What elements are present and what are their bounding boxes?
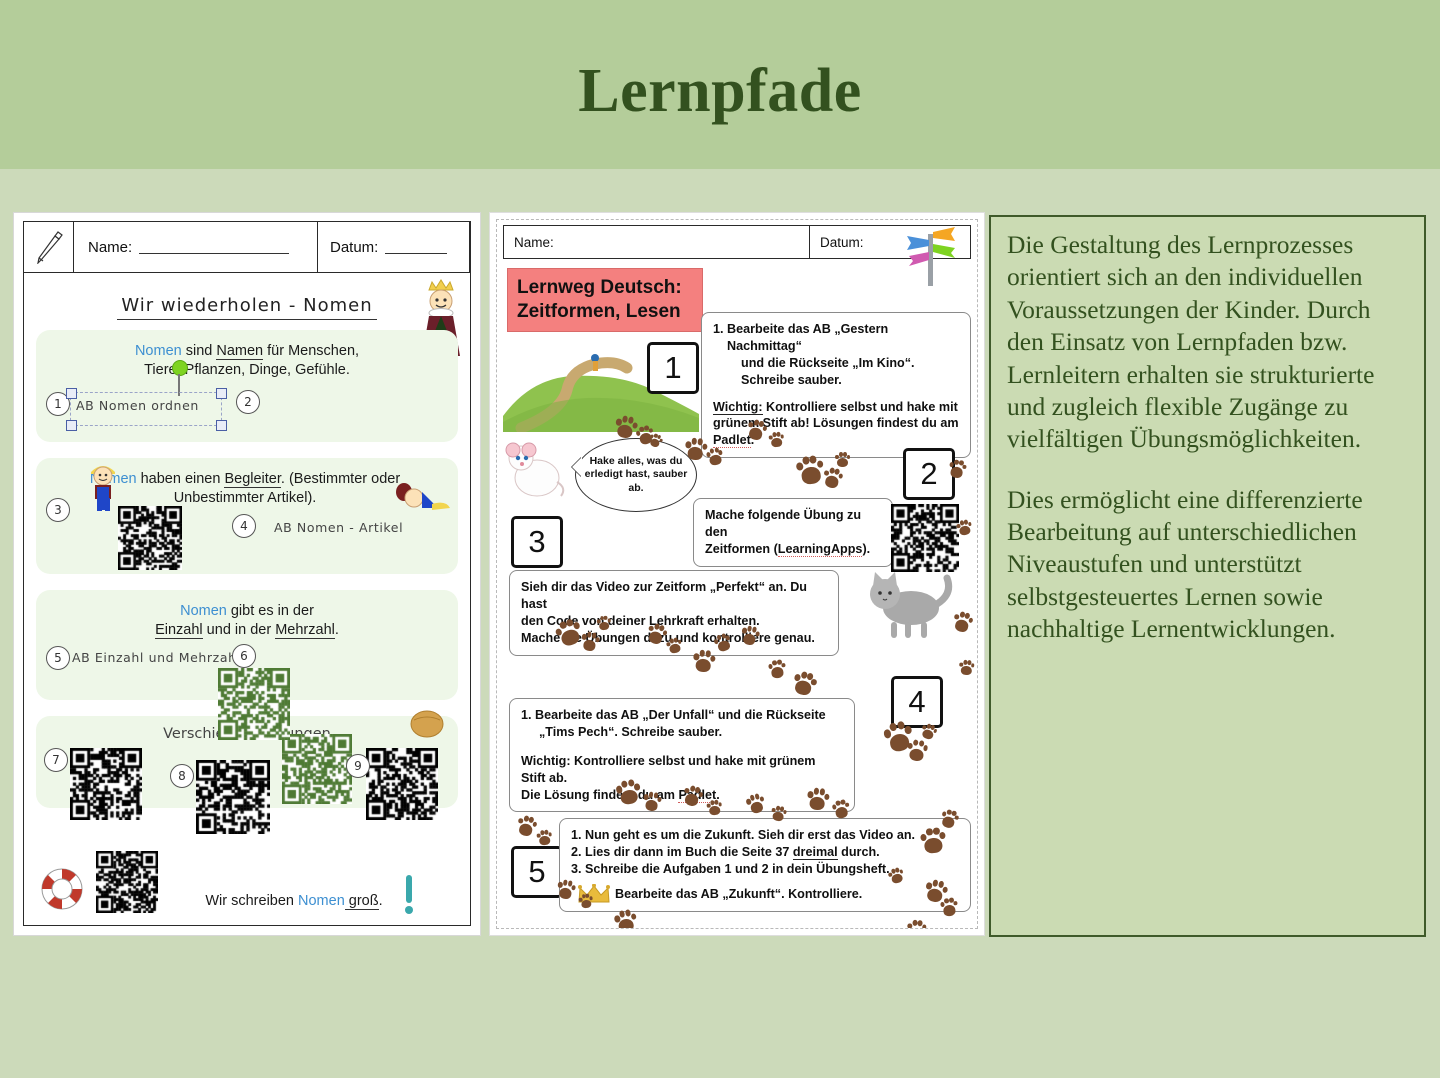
step3-line-3: Mache die Übungen dazu und kontrolliere … — [521, 630, 827, 647]
paw-print-icon — [906, 739, 930, 764]
resize-handle-bl[interactable] — [66, 420, 77, 431]
block1-text-b: für Menschen, — [263, 343, 359, 359]
block2-text-b: . (Bestimmter oder — [281, 471, 400, 487]
description-paragraph-1: Die Gestaltung des Lernprozesses orienti… — [1007, 229, 1410, 456]
footer-word-nomen: Nomen — [298, 893, 345, 909]
step5-line-1: 1. Nun geht es um die Zukunft. Sieh dir … — [571, 827, 959, 844]
step-box-1[interactable]: 1 — [647, 342, 699, 394]
worksheet-lernweg[interactable]: Name: Datum: Lernweg Deutsch: Zeitformen… — [490, 213, 984, 935]
name-blank[interactable] — [139, 241, 289, 254]
block3-text-b: und in der — [203, 622, 276, 638]
step2-line-2: Zeitformen ( — [705, 542, 778, 556]
block2-word-begleiter: Begleiter — [224, 471, 280, 488]
task-label-1: AB Nomen ordnen — [76, 398, 199, 413]
qr-code-6[interactable] — [218, 668, 290, 740]
name-label: Name: — [88, 239, 132, 256]
paw-print-icon — [906, 919, 927, 929]
step-marker-8[interactable]: 8 — [170, 764, 194, 788]
footer-word-gross: groß — [345, 893, 379, 910]
paw-print-icon — [768, 659, 788, 680]
qr-code-green[interactable] — [282, 734, 352, 804]
block1-word-nomen: Nomen — [135, 343, 182, 359]
paw-print-icon — [536, 829, 553, 847]
block3-word-einzahl: Einzahl — [155, 622, 203, 639]
qr-code-9[interactable] — [366, 748, 438, 820]
task-label-3: AB Einzahl und Mehrzahl — [72, 650, 241, 665]
step-box-4[interactable]: 4 — [891, 676, 943, 728]
step4-important-label: Wichtig: — [521, 754, 571, 768]
qr-code-3[interactable] — [118, 506, 182, 570]
step5-line-3: 3. Schreibe die Aufgaben 1 und 2 in dein… — [571, 861, 959, 878]
concept-block-3-text: Nomen gibt es in der Einzahl und in der … — [36, 590, 458, 640]
rotation-handle[interactable] — [172, 360, 188, 376]
step3-line-2: den Code von deiner Lehrkraft erhalten. — [521, 613, 827, 630]
paw-print-icon — [821, 466, 845, 491]
signpost-icon — [901, 222, 959, 286]
cat-icon — [863, 568, 955, 640]
date-blank[interactable] — [385, 241, 447, 254]
step-callout-2: Mache folgende Übung zu den Zeitformen (… — [693, 498, 893, 567]
step-marker-2[interactable]: 2 — [236, 390, 260, 414]
mouse-icon — [503, 442, 567, 500]
exclamation-mark-icon — [404, 875, 414, 915]
lifebuoy-icon — [40, 867, 84, 911]
step5-underlined-word: dreimal — [793, 845, 838, 860]
step-marker-3[interactable]: 3 — [46, 498, 70, 522]
paw-print-icon — [795, 454, 826, 488]
resize-handle-br[interactable] — [216, 420, 227, 431]
mid-date-label: Datum: — [820, 235, 864, 250]
step-box-2[interactable]: 2 — [903, 448, 955, 500]
step4-padlet-link[interactable]: Padlet — [678, 788, 716, 803]
step4-line-2: „Tims Pech“. Schreibe sauber. — [521, 724, 843, 741]
description-paragraph-2: Dies ermöglicht eine differenzierte Bear… — [1007, 484, 1410, 646]
block3-word-nomen: Nomen — [180, 603, 227, 619]
qr-code-8[interactable] — [196, 760, 270, 834]
description-panel: Die Gestaltung des Lernprozesses orienti… — [989, 215, 1426, 937]
lernweg-banner: Lernweg Deutsch: Zeitformen, Lesen — [507, 268, 703, 332]
step1-important-end: . — [751, 433, 755, 447]
step5-line-2: 2. Lies dir dann im Buch die Seite 37 — [571, 845, 793, 859]
banner-line-1: Lernweg Deutsch: — [517, 276, 693, 300]
concept-block-3: Nomen gibt es in der Einzahl und in der … — [36, 590, 458, 700]
step-marker-7[interactable]: 7 — [44, 748, 68, 772]
qr-code-7[interactable] — [70, 748, 142, 820]
step2-line-end: ). — [862, 542, 870, 556]
block3-text-a: gibt es in der — [227, 603, 314, 619]
worksheet-heading: Wir wiederholen - Nomen — [24, 295, 470, 316]
step1-line-2: und die Rückseite „Im Kino“. — [713, 355, 959, 372]
page-title: Lernpfade — [0, 56, 1440, 127]
resize-handle-tr[interactable] — [216, 388, 227, 399]
block1-text-a: sind — [182, 343, 217, 359]
step2-line-1: Mache folgende Übung zu den — [705, 507, 881, 541]
worksheet-heading-text: Wir wiederholen - Nomen — [117, 295, 376, 320]
sleeping-figure-icon — [392, 482, 454, 516]
block2-text-a: haben einen — [137, 471, 225, 487]
step-marker-6[interactable]: 6 — [232, 644, 256, 668]
name-field[interactable]: Name: — [74, 222, 318, 272]
step1-line-1: 1. Bearbeite das AB „Gestern Nachmittag“ — [713, 321, 959, 355]
mid-name-label: Name: — [514, 235, 554, 250]
step1-important-label: Wichtig: — [713, 400, 763, 415]
banner-line-2: Zeitformen, Lesen — [517, 300, 693, 324]
block1-word-namen: Namen — [216, 343, 263, 360]
boy-figure-icon — [86, 460, 120, 512]
step5-line2-end: durch. — [838, 845, 880, 859]
step1-line-3: Schreibe sauber. — [713, 372, 959, 389]
step4-line-1: 1. Bearbeite das AB „Der Unfall“ und die… — [521, 707, 843, 724]
step5-bonus-text: Bearbeite das AB „Zukunft“. Kontrolliere… — [615, 887, 862, 901]
step-marker-4[interactable]: 4 — [232, 514, 256, 538]
footer-text-d: . — [379, 893, 383, 909]
step-box-3[interactable]: 3 — [511, 516, 563, 568]
mid-name-field[interactable]: Name: — [504, 226, 810, 258]
step-callout-1: 1. Bearbeite das AB „Gestern Nachmittag“… — [701, 312, 971, 458]
footer-sentence: Wir schreiben Nomen groß. — [144, 893, 444, 909]
crown-icon — [577, 884, 611, 904]
date-label: Datum: — [330, 239, 378, 256]
concept-block-1: Nomen sind Namen für Menschen, Tiere, Pf… — [36, 330, 458, 442]
step4-important-line2: Die Lösung findest du am — [521, 788, 678, 802]
paw-print-icon — [515, 814, 539, 840]
step-callout-4: 1. Bearbeite das AB „Der Unfall“ und die… — [509, 698, 855, 812]
footer-text-a: Wir schreiben — [205, 893, 298, 909]
step-callout-5: 1. Nun geht es um die Zukunft. Sieh dir … — [559, 818, 971, 912]
name-date-row: Name: Datum: — [24, 222, 470, 273]
nut-icon — [410, 708, 444, 738]
block2-line2: Unbestimmter Artikel). — [174, 490, 317, 506]
concept-block-2: Nomen haben einen Begleiter. (Bestimmter… — [36, 458, 458, 574]
qr-code-step-2[interactable] — [891, 504, 959, 572]
worksheet-nomen[interactable]: Name: Datum: Wir wiederholen - Nomen — [14, 213, 480, 935]
step4-important-end: . — [716, 788, 720, 802]
paw-print-icon — [790, 670, 819, 700]
step-box-5[interactable]: 5 — [511, 846, 563, 898]
pencil-icon — [24, 222, 74, 272]
concept-block-1-text: Nomen sind Namen für Menschen, Tiere, Pf… — [36, 330, 458, 380]
step1-padlet-link[interactable]: Padlet — [713, 433, 751, 448]
step-marker-9[interactable]: 9 — [346, 754, 370, 778]
paw-print-icon — [958, 659, 975, 677]
speech-bubble: Hake alles, was du erledigt hast, sauber… — [575, 438, 697, 512]
step-marker-5[interactable]: 5 — [46, 646, 70, 670]
block3-word-mehrzahl: Mehrzahl — [275, 622, 335, 639]
worksheet-nomen-page: Name: Datum: Wir wiederholen - Nomen — [23, 221, 471, 926]
date-field[interactable]: Datum: — [318, 222, 470, 272]
task-label-2: AB Nomen - Artikel — [274, 520, 403, 535]
block3-text-c: . — [335, 622, 339, 638]
step2-learningapps-link[interactable]: LearningApps — [778, 542, 863, 557]
step3-line-1: Sieh dir das Video zur Zeitform „Perfekt… — [521, 579, 827, 613]
worksheet-lernweg-page: Name: Datum: Lernweg Deutsch: Zeitformen… — [496, 219, 978, 929]
step-callout-3: Sieh dir das Video zur Zeitform „Perfekt… — [509, 570, 839, 656]
